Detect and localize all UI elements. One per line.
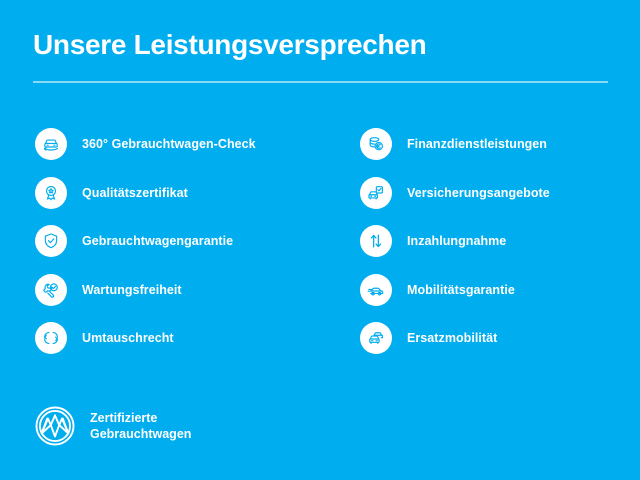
shield-check-icon (35, 225, 67, 257)
list-item-label: Versicherungsangebote (407, 186, 550, 200)
list-item-label: Finanzdienstleistungen (407, 137, 547, 151)
list-item-label: Inzahlungnahme (407, 234, 506, 248)
list-item-label: Gebrauchtwagengarantie (82, 234, 233, 248)
list-item[interactable]: Gebrauchtwagengarantie (35, 217, 325, 266)
list-item[interactable]: Inzahlungnahme (360, 217, 640, 266)
list-item[interactable]: Wartungsfreiheit (35, 266, 325, 315)
list-item[interactable]: Umtauschrecht (35, 314, 325, 363)
two-cars-icon (360, 322, 392, 354)
list-item[interactable]: Versicherungsangebote (360, 169, 640, 218)
promises-left-column: 360° Gebrauchtwagen-Check Qualitätszerti… (35, 120, 325, 363)
up-down-arrows-icon (360, 225, 392, 257)
list-item[interactable]: Mobilitätsgarantie (360, 266, 640, 315)
promises-right-column: Finanzdienstleistungen Versicheru (360, 120, 640, 363)
car-document-icon (360, 177, 392, 209)
list-item-label: Wartungsfreiheit (82, 283, 182, 297)
list-item[interactable]: Ersatzmobilität (360, 314, 640, 363)
wrench-check-icon (35, 274, 67, 306)
footer-line-2: Gebrauchtwagen (90, 426, 191, 442)
list-item[interactable]: Finanzdienstleistungen (360, 120, 640, 169)
title-divider (33, 81, 608, 83)
footer-line-1: Zertifizierte (90, 410, 191, 426)
footer-branding: Zertifizierte Gebrauchtwagen (33, 404, 191, 448)
list-item[interactable]: 360° Gebrauchtwagen-Check (35, 120, 325, 169)
list-item-label: Umtauschrecht (82, 331, 174, 345)
list-item-label: Qualitätszertifikat (82, 186, 188, 200)
volkswagen-logo (33, 404, 77, 448)
page-title: Unsere Leistungsversprechen (33, 29, 426, 61)
promises-slide: Unsere Leistungsversprechen 360° Gebrauc… (0, 0, 640, 480)
list-item-label: Ersatzmobilität (407, 331, 497, 345)
coins-euro-icon (360, 128, 392, 160)
award-rosette-icon (35, 177, 67, 209)
car-360-check-icon (35, 128, 67, 160)
list-item-label: Mobilitätsgarantie (407, 283, 515, 297)
car-motion-icon (360, 274, 392, 306)
list-item-label: 360° Gebrauchtwagen-Check (82, 137, 256, 151)
list-item[interactable]: Qualitätszertifikat (35, 169, 325, 218)
exchange-arrows-icon (35, 322, 67, 354)
footer-text: Zertifizierte Gebrauchtwagen (90, 410, 191, 442)
